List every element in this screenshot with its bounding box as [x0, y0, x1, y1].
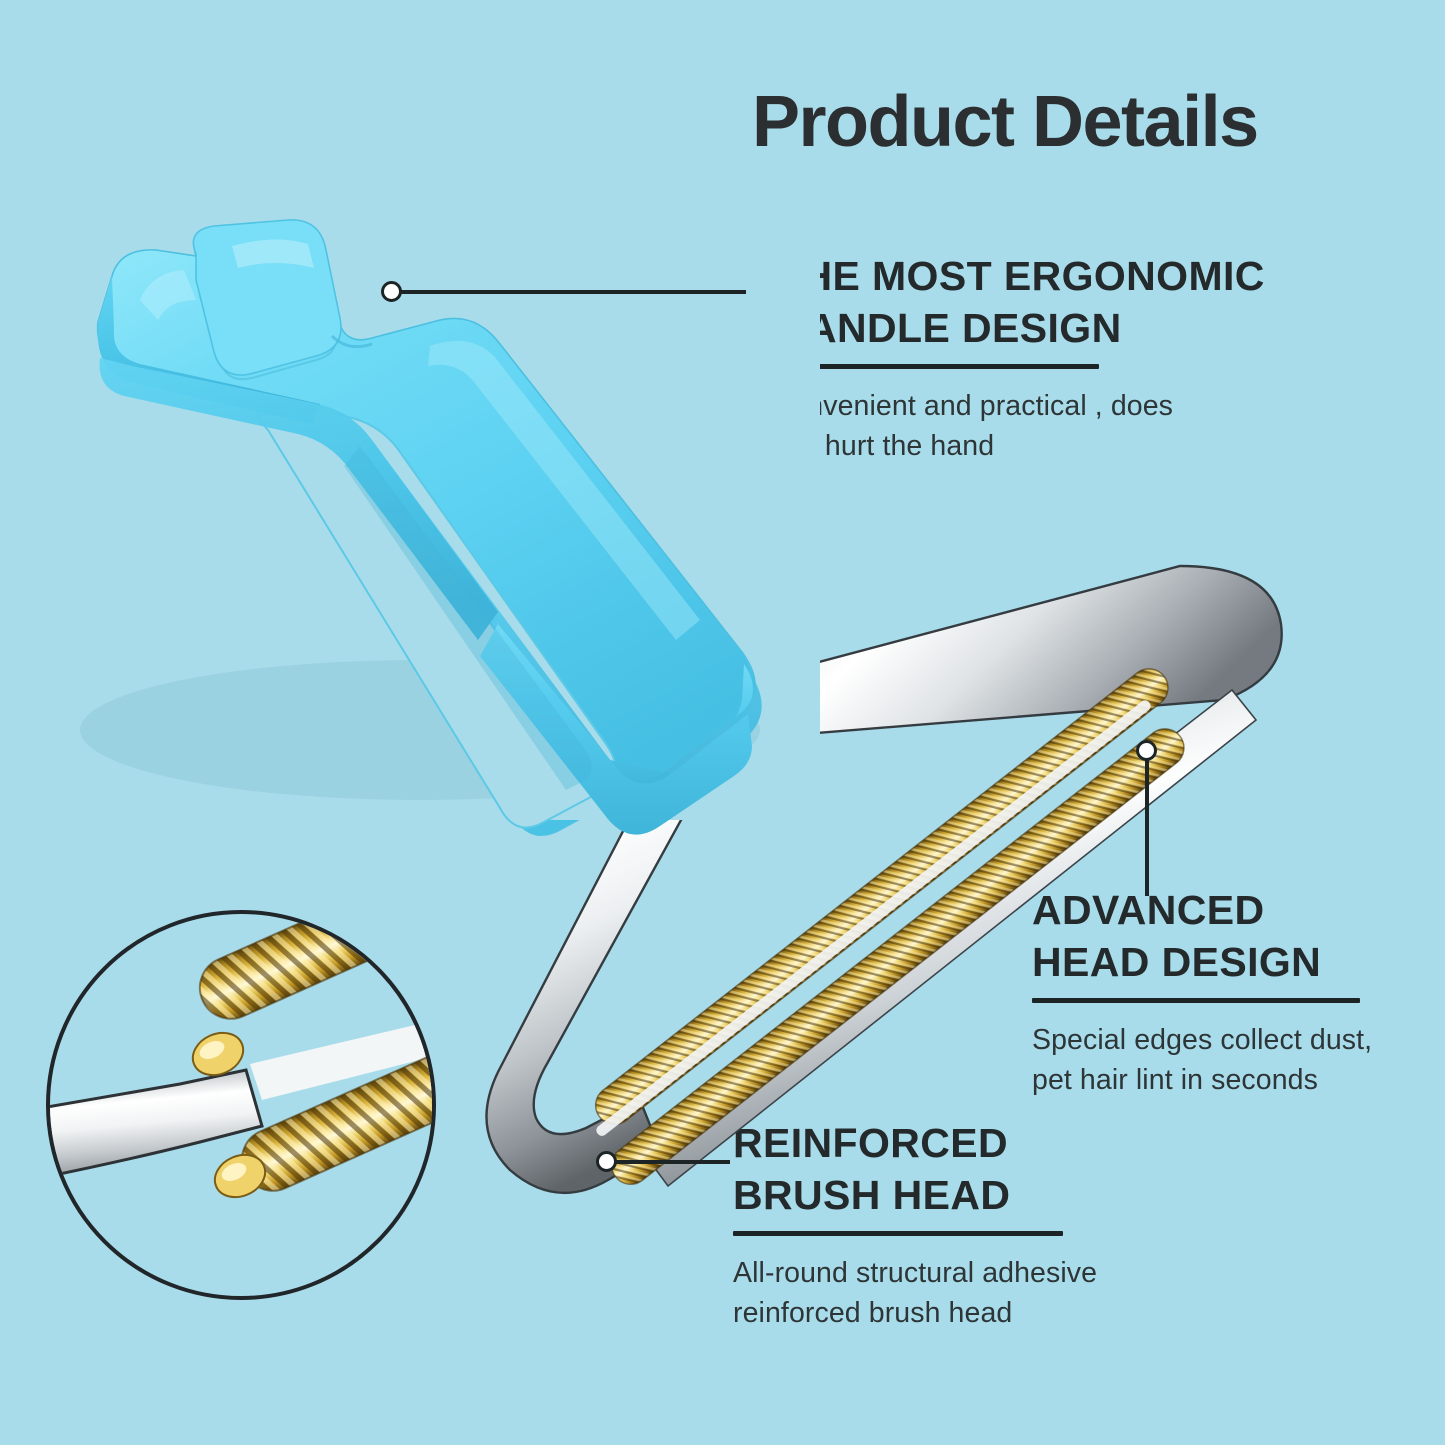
leader-dot-handle [381, 281, 402, 302]
leader-dot-brush [596, 1151, 617, 1172]
leader-line-handle [394, 290, 746, 294]
brush-head-closeup-circle [46, 910, 436, 1300]
leader-dot-head [1136, 740, 1157, 761]
leader-line-brush [608, 1160, 730, 1164]
infographic-canvas: Product Details THE MOST ERGONOMIC HANDL… [0, 0, 1445, 1445]
leader-line-head [1145, 750, 1149, 896]
product-illustration [0, 0, 1445, 1445]
